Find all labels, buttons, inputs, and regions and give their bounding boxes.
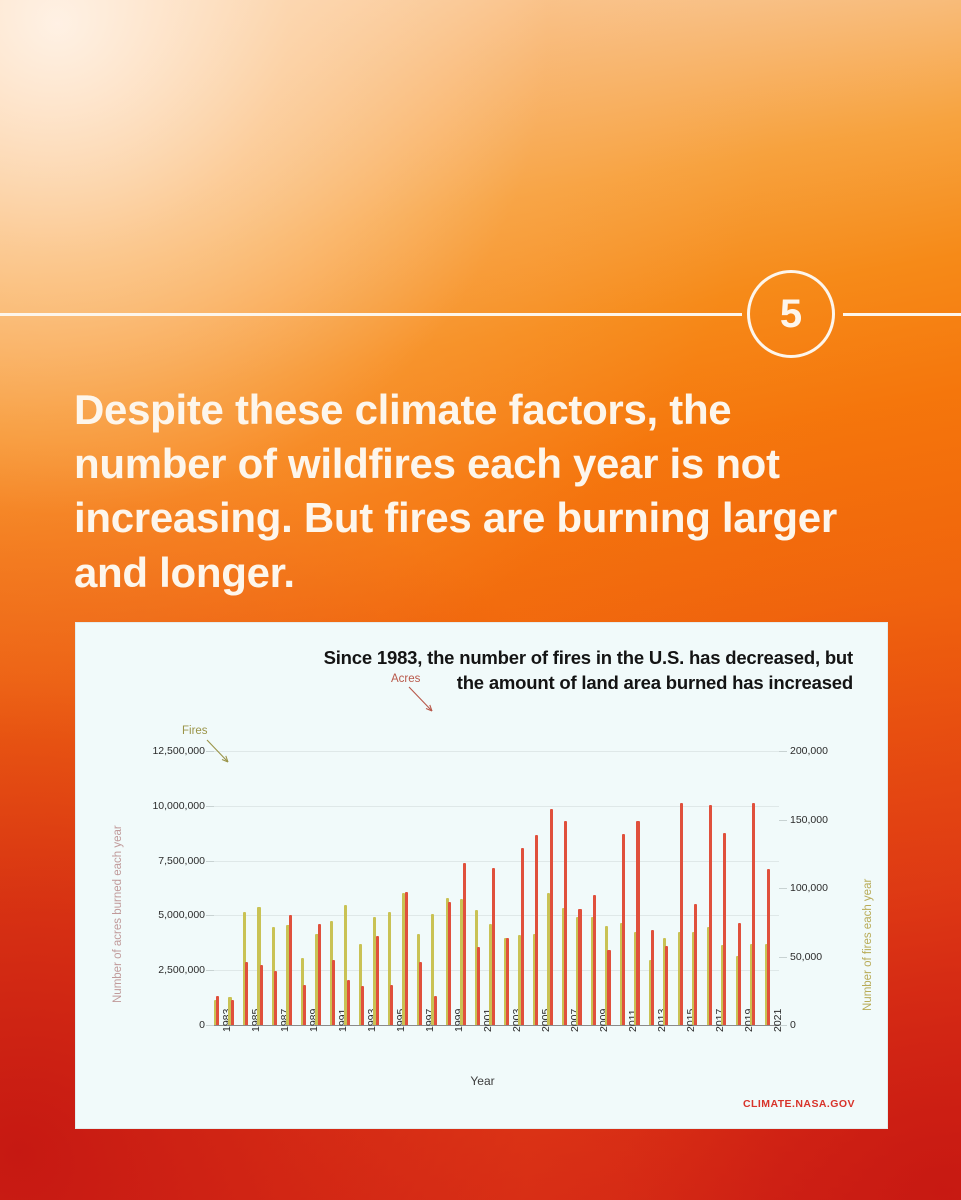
bar-group: 1983 <box>214 751 228 1025</box>
bar-group <box>576 751 590 1025</box>
bar-group: 1997 <box>417 751 431 1025</box>
bar-acres <box>767 869 770 1025</box>
bar-acres <box>694 904 697 1025</box>
bar-acres <box>376 936 379 1025</box>
y-tick-mark-left <box>206 861 214 862</box>
bar-acres <box>419 962 422 1025</box>
bar-acres <box>405 892 408 1025</box>
chart-title: Since 1983, the number of fires in the U… <box>293 646 853 695</box>
page-title: Despite these climate factors, the numbe… <box>74 383 864 600</box>
bar-acres <box>521 848 524 1026</box>
bar-group <box>402 751 416 1025</box>
bar-acres <box>492 868 495 1025</box>
bar-group <box>750 751 764 1025</box>
bar-group: 2019 <box>736 751 750 1025</box>
bar-group: 2017 <box>707 751 721 1025</box>
bar-group: 2007 <box>562 751 576 1025</box>
bar-group: 1999 <box>446 751 460 1025</box>
bar-group: 2013 <box>649 751 663 1025</box>
bar-group <box>605 751 619 1025</box>
bar-acres <box>463 863 466 1025</box>
bar-acres <box>361 986 364 1025</box>
y-axis-tick-right: 50,000 <box>790 952 822 963</box>
bar-acres <box>651 930 654 1025</box>
bar-acres <box>318 924 321 1025</box>
y-tick-mark-left <box>206 1025 214 1026</box>
slide-number-badge: 5 <box>747 270 835 358</box>
bar-acres <box>506 938 509 1025</box>
bar-acres <box>434 996 437 1025</box>
bar-acres <box>738 923 741 1025</box>
y-tick-mark-right <box>779 888 787 889</box>
y-tick-mark-left <box>206 915 214 916</box>
bar-group <box>286 751 300 1025</box>
bar-acres <box>274 971 277 1025</box>
bar-acres <box>477 947 480 1025</box>
bar-acres <box>289 915 292 1025</box>
bar-group: 2003 <box>504 751 518 1025</box>
y-axis-tick-left: 0 <box>199 1020 205 1031</box>
bar-acres <box>752 803 755 1025</box>
bar-acres <box>231 1000 234 1025</box>
bar-group <box>315 751 329 1025</box>
bar-group: 2011 <box>620 751 634 1025</box>
y-axis-label-right: Number of fires each year <box>862 879 874 1011</box>
annotation-arrow-acres <box>403 681 438 717</box>
bar-group <box>228 751 242 1025</box>
bar-group <box>547 751 561 1025</box>
bar-acres <box>216 996 219 1025</box>
bar-group: 2015 <box>678 751 692 1025</box>
bar-group <box>692 751 706 1025</box>
bar-acres <box>723 833 726 1025</box>
bar-acres <box>260 965 263 1025</box>
y-tick-mark-right <box>779 751 787 752</box>
divider-line-left <box>0 313 742 316</box>
bar-group <box>634 751 648 1025</box>
bar-acres <box>607 950 610 1025</box>
bar-group <box>721 751 735 1025</box>
y-axis-label-left: Number of acres burned each year <box>112 825 124 1003</box>
y-tick-mark-left <box>206 806 214 807</box>
y-axis-tick-left: 12,500,000 <box>152 746 205 757</box>
bar-group: 1987 <box>272 751 286 1025</box>
bar-group: 2001 <box>475 751 489 1025</box>
bar-group <box>373 751 387 1025</box>
annotation-arrow-fires <box>201 734 234 768</box>
y-axis-tick-left: 2,500,000 <box>158 965 205 976</box>
bar-acres <box>347 980 350 1025</box>
x-axis-label: Year <box>76 1074 889 1088</box>
bar-acres <box>622 834 625 1025</box>
bar-group: 1985 <box>243 751 257 1025</box>
bar-acres <box>245 962 248 1025</box>
bar-acres <box>535 835 538 1025</box>
bar-group <box>518 751 532 1025</box>
x-axis-tick: 2021 <box>773 1009 784 1032</box>
y-axis-tick-right: 100,000 <box>790 883 828 894</box>
bar-acres <box>578 909 581 1025</box>
poster-root: 5 Despite these climate factors, the num… <box>0 0 961 1200</box>
source-attribution: CLIMATE.NASA.GOV <box>743 1098 855 1110</box>
bar-acres <box>709 805 712 1025</box>
chart-card: Since 1983, the number of fires in the U… <box>75 622 888 1129</box>
plot-area: 02,500,0005,000,0007,500,00010,000,00012… <box>214 751 779 1025</box>
bar-group: 2009 <box>591 751 605 1025</box>
bar-group <box>663 751 677 1025</box>
bar-acres <box>332 960 335 1025</box>
bar-group: 1995 <box>388 751 402 1025</box>
bar-acres <box>550 809 553 1025</box>
bar-group: 1993 <box>359 751 373 1025</box>
bar-acres <box>303 985 306 1025</box>
y-tick-mark-right <box>779 957 787 958</box>
bar-acres <box>448 902 451 1025</box>
bar-group <box>460 751 474 1025</box>
y-tick-mark-right <box>779 820 787 821</box>
bar-group <box>431 751 445 1025</box>
y-tick-mark-left <box>206 970 214 971</box>
bar-acres <box>564 821 567 1025</box>
bar-group: 2021 <box>765 751 779 1025</box>
bar-group <box>257 751 271 1025</box>
y-axis-tick-right: 0 <box>790 1020 796 1031</box>
y-axis-tick-right: 150,000 <box>790 815 828 826</box>
bar-group: 1989 <box>301 751 315 1025</box>
bar-acres <box>636 821 639 1025</box>
bar-group <box>489 751 503 1025</box>
y-axis-tick-left: 7,500,000 <box>158 856 205 867</box>
bar-group <box>344 751 358 1025</box>
bar-acres <box>680 803 683 1025</box>
bar-group: 1991 <box>330 751 344 1025</box>
y-axis-tick-right: 200,000 <box>790 746 828 757</box>
bar-acres <box>390 985 393 1025</box>
divider-line-right <box>843 313 961 316</box>
y-axis-tick-left: 10,000,000 <box>152 801 205 812</box>
bar-acres <box>593 895 596 1025</box>
bar-group: 2005 <box>533 751 547 1025</box>
y-axis-tick-left: 5,000,000 <box>158 910 205 921</box>
bar-acres <box>665 946 668 1025</box>
